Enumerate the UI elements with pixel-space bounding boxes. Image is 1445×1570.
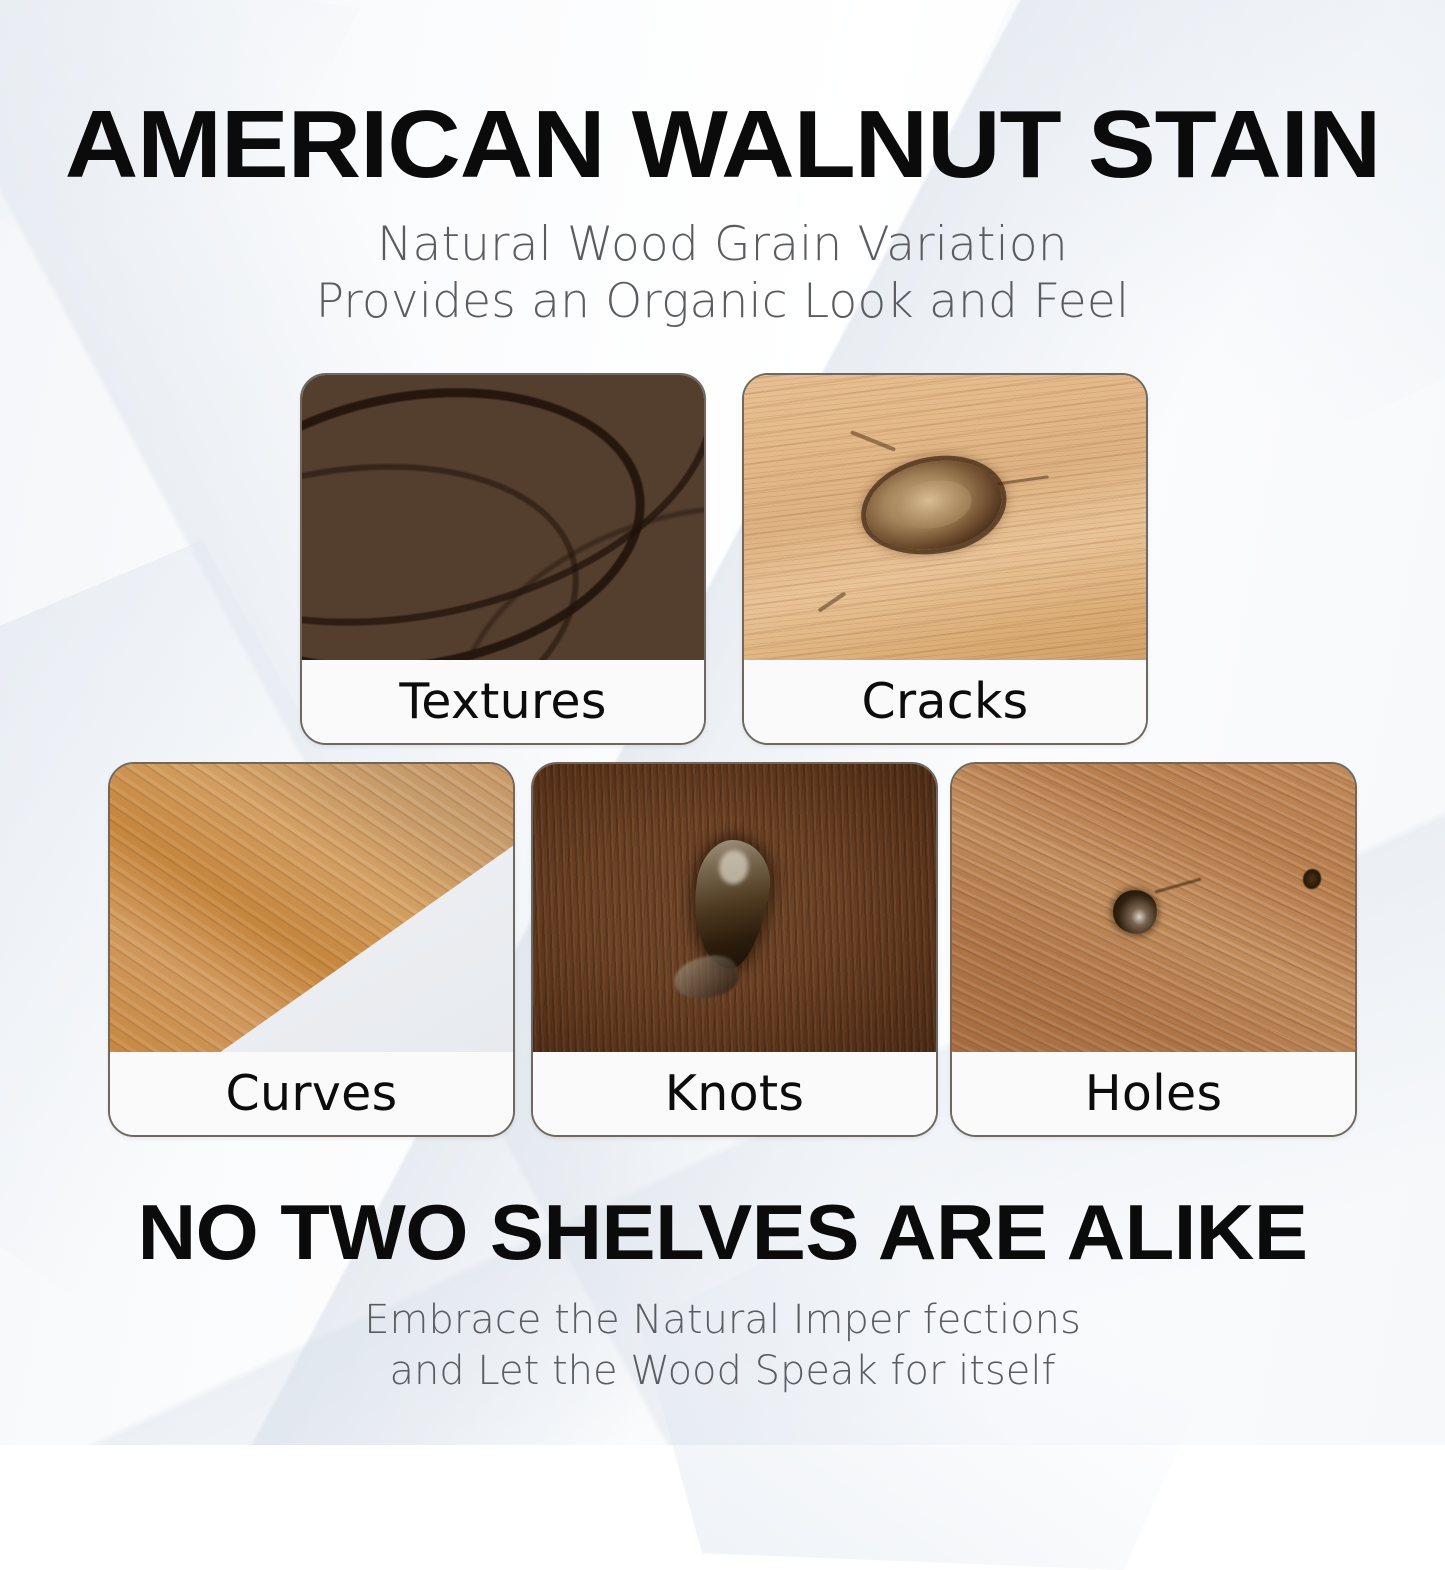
feature-card-textures-photo [302,375,704,664]
knot-core [891,474,974,533]
feature-card-cracks: Cracks [742,373,1148,745]
feature-card-knots: Knots [531,762,938,1137]
feature-card-cracks-photo [744,375,1146,664]
infographic-poster: AMERICAN WALNUT STAIN Natural Wood Grain… [0,0,1445,1445]
footer-subtitle: Embrace the Natural Imper fections and L… [0,1295,1445,1396]
feature-card-textures-label: Textures [302,660,704,743]
feature-card-textures: Textures [300,373,706,745]
footer-subtitle-line-2: and Let the Wood Speak for itself [0,1346,1445,1396]
feature-card-holes-label: Holes [952,1052,1355,1135]
feature-card-curves-photo [110,764,513,1056]
feature-card-holes-photo [952,764,1355,1056]
footer-block: NO TWO SHELVES ARE ALIKE Embrace the Nat… [0,1192,1445,1396]
feature-card-curves: Curves [108,762,515,1137]
footer-headline: NO TWO SHELVES ARE ALIKE [0,1192,1445,1273]
footer-subtitle-line-1: Embrace the Natural Imper fections [0,1295,1445,1345]
knot-highlight [718,848,751,885]
feature-card-cracks-label: Cracks [744,660,1146,743]
feature-card-curves-label: Curves [110,1052,513,1135]
feature-card-knots-photo [533,764,936,1056]
feature-card-holes: Holes [950,762,1357,1137]
feature-card-knots-label: Knots [533,1052,936,1135]
